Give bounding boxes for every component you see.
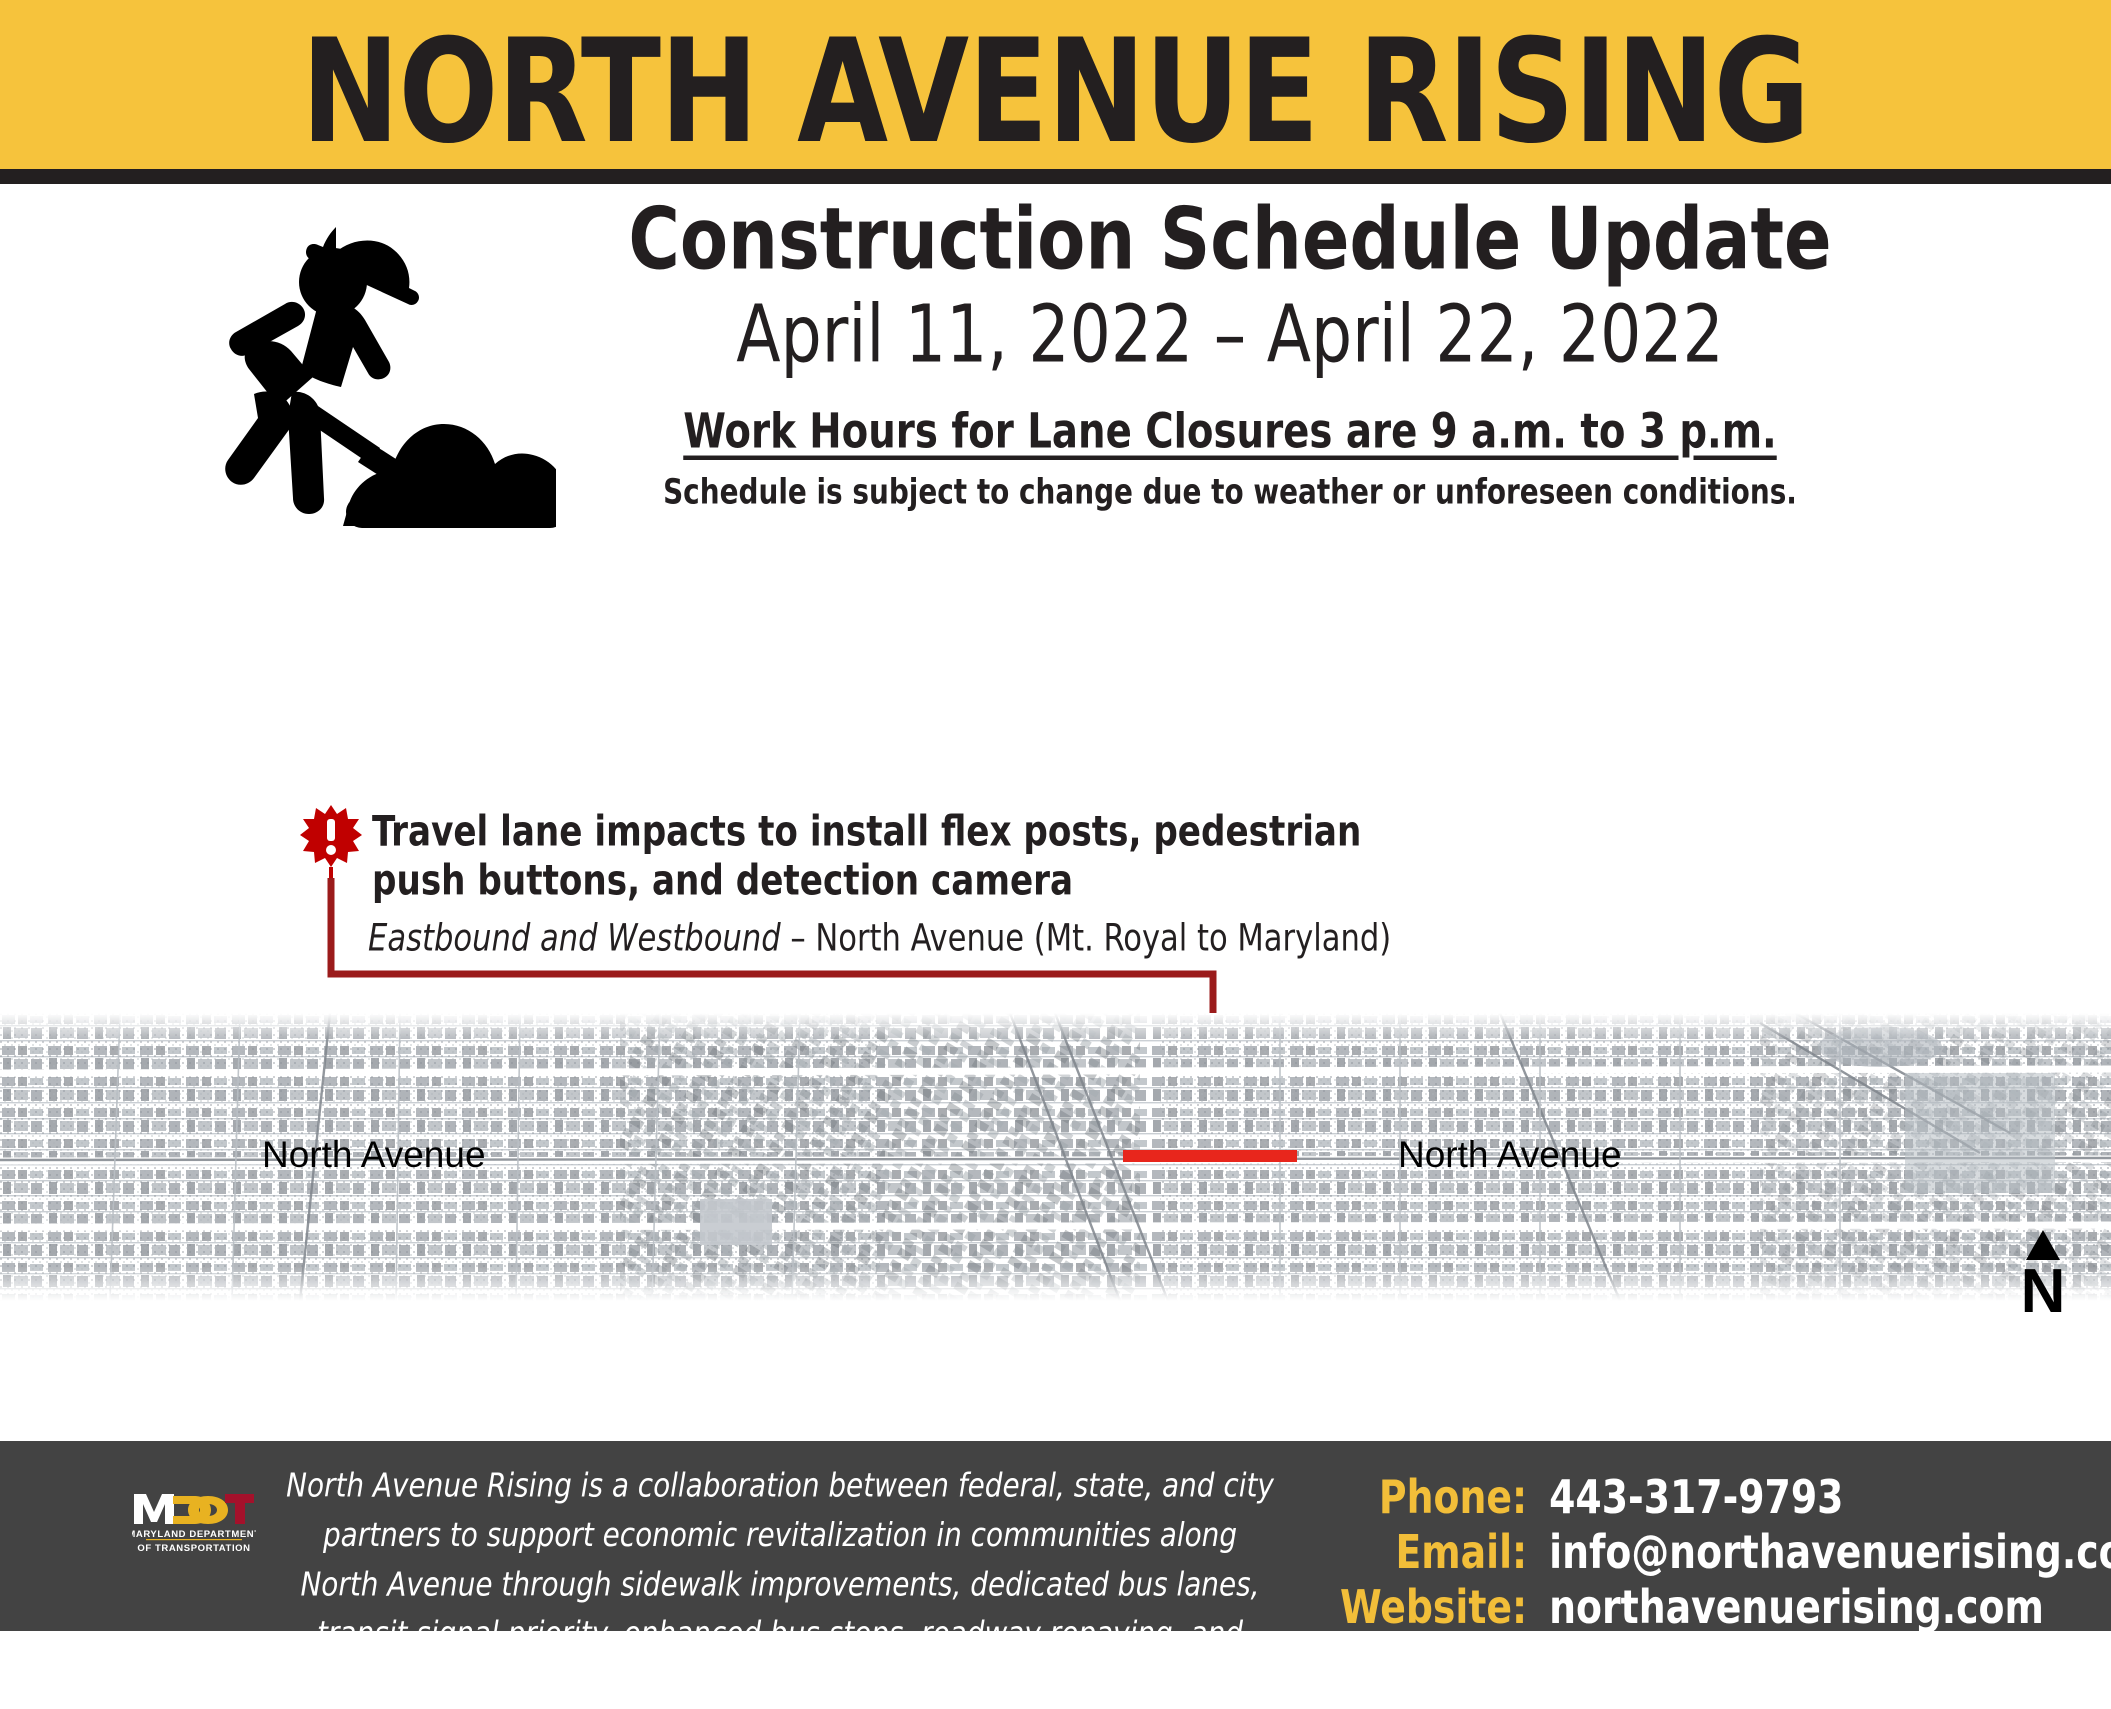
callout-location: Eastbound and Westbound – North Avenue (…	[368, 914, 1500, 963]
website-value[interactable]: northavenuerising.com	[1549, 1580, 2111, 1634]
road-work-worker-icon	[196, 224, 556, 534]
banner-title: NORTH AVENUE RISING	[302, 5, 1810, 164]
svg-text:N: N	[2021, 1257, 2066, 1316]
date-range: April 11, 2022 – April 22, 2022	[520, 291, 1940, 378]
map-label-north-avenue-east: North Avenue	[1398, 1134, 1622, 1176]
work-callout: Travel lane impacts to install flex post…	[300, 805, 1500, 958]
work-hours-notice: Work Hours for Lane Closures are 9 a.m. …	[520, 404, 1940, 460]
callout-line-1: Travel lane impacts to install flex post…	[372, 805, 1500, 859]
callout-text: Travel lane impacts to install flex post…	[372, 805, 1500, 958]
banner-divider	[0, 169, 2111, 184]
page-banner: NORTH AVENUE RISING	[0, 0, 2111, 169]
contact-info: Phone: 443-317-9793 Email: info@northave…	[1340, 1470, 2111, 1629]
phone-label: Phone:	[1340, 1470, 1527, 1524]
warning-starburst-icon	[300, 805, 362, 883]
header-text-block: Construction Schedule Update April 11, 2…	[520, 196, 1940, 508]
svg-text:MARYLAND DEPARTMENT: MARYLAND DEPARTMENT	[132, 1529, 256, 1540]
mdot-logo: MARYLAND DEPARTMENT OF TRANSPORTATION	[132, 1490, 256, 1556]
callout-street: – North Avenue (Mt. Royal to Maryland)	[781, 916, 1392, 960]
callout-line-2: push buttons, and detection camera	[372, 854, 1500, 908]
svg-text:OF TRANSPORTATION: OF TRANSPORTATION	[137, 1543, 250, 1554]
page-title: Construction Schedule Update	[520, 196, 1940, 285]
work-zone-marker	[1123, 1150, 1297, 1162]
schedule-disclaimer: Schedule is subject to change due to wea…	[520, 472, 1940, 512]
north-arrow-icon: N	[2006, 1228, 2080, 1316]
website-label: Website:	[1340, 1580, 1527, 1634]
email-value[interactable]: info@northavenuerising.com	[1549, 1525, 2111, 1579]
callout-direction: Eastbound and Westbound	[368, 916, 781, 960]
phone-value[interactable]: 443-317-9793	[1549, 1470, 2111, 1524]
map-label-north-avenue-west: North Avenue	[262, 1134, 486, 1176]
footer-description: North Avenue Rising is a collaboration b…	[280, 1462, 1280, 1709]
email-label: Email:	[1340, 1525, 1527, 1579]
